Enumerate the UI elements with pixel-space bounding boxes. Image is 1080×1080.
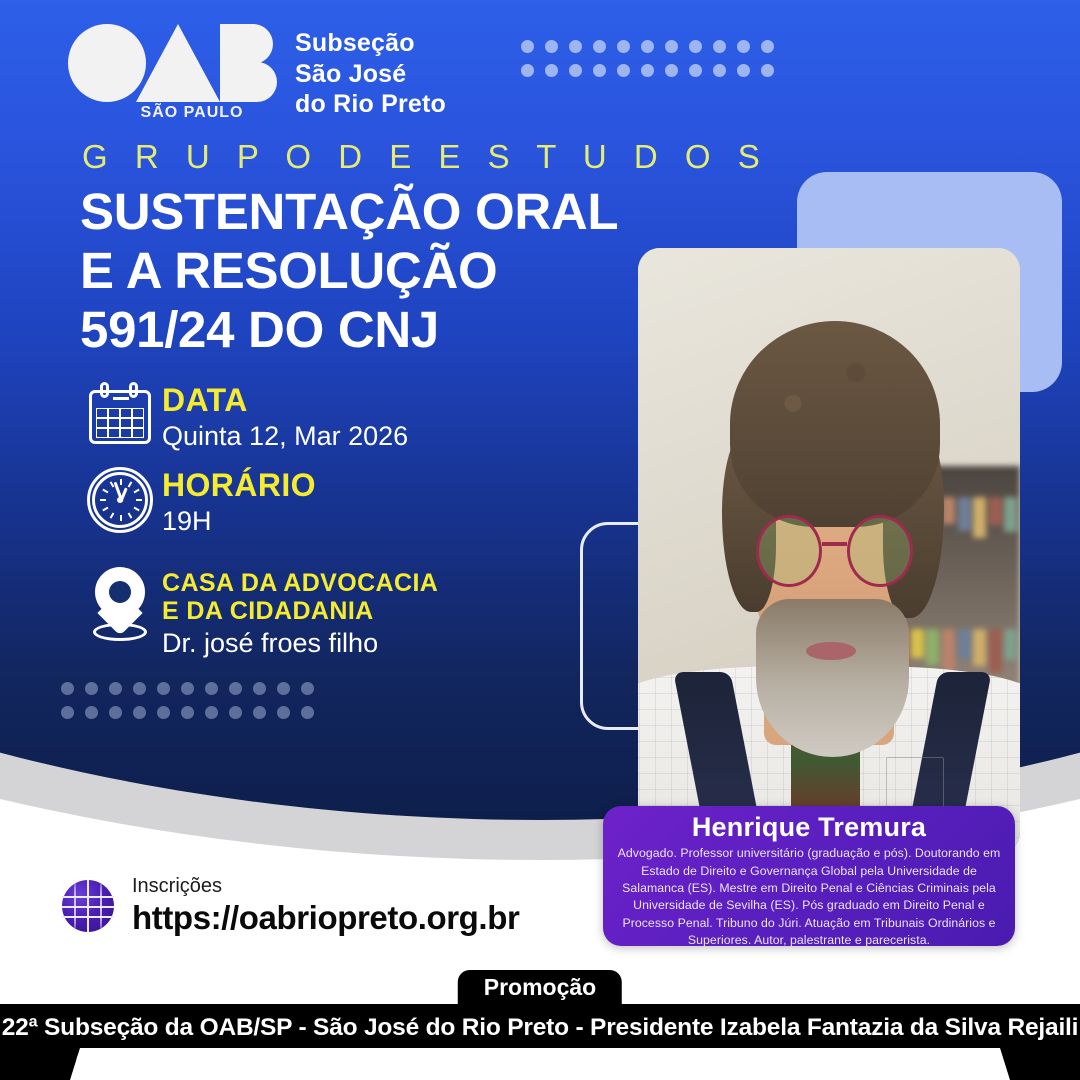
dot: [205, 682, 218, 695]
registration-label: Inscrições: [132, 875, 519, 897]
registration-url[interactable]: https://oabriopreto.org.br: [132, 899, 519, 937]
dot: [761, 64, 774, 77]
dot: [181, 706, 194, 719]
dot: [61, 706, 74, 719]
subsection-line-1: Subseção: [295, 28, 446, 59]
oab-letter-b-upper-icon: [225, 24, 273, 64]
speaker-card: Henrique Tremura Advogado. Professor uni…: [603, 806, 1015, 946]
time-value: 19H: [162, 505, 316, 539]
speaker-bio: Advogado. Professor universitário (gradu…: [615, 845, 1003, 950]
page-title: SUSTENTAÇÃO ORAL E A RESOLUÇÃO 591/24 DO…: [80, 182, 618, 359]
dot: [545, 64, 558, 77]
oab-logo-state: SÃO PAULO: [112, 104, 272, 122]
dot: [181, 682, 194, 695]
title-line-1: SUSTENTAÇÃO ORAL: [80, 182, 618, 241]
dot: [301, 706, 314, 719]
dot: [521, 64, 534, 77]
time-label: HORÁRIO: [162, 469, 316, 503]
title-line-2: E A RESOLUÇÃO: [80, 241, 618, 300]
dot: [713, 64, 726, 77]
dot: [689, 64, 702, 77]
dot: [61, 682, 74, 695]
dot: [665, 40, 678, 53]
clock-icon: [78, 467, 162, 533]
dot: [617, 64, 630, 77]
dot: [133, 706, 146, 719]
calendar-icon: [78, 382, 162, 444]
dot: [85, 682, 98, 695]
title-line-3: 591/24 DO CNJ: [80, 300, 618, 359]
kicker-label: G R U P O D E E S T U D O S: [82, 138, 769, 176]
dot: [109, 682, 122, 695]
dot: [205, 706, 218, 719]
dot: [301, 682, 314, 695]
oab-subsection-text: Subseção São José do Rio Preto: [295, 28, 446, 120]
dot: [157, 682, 170, 695]
map-pin-icon: [78, 567, 162, 643]
oab-logo-mark: SÃO PAULO: [62, 18, 247, 118]
oab-letter-a-icon: [136, 24, 220, 102]
dot: [229, 706, 242, 719]
date-label: DATA: [162, 384, 408, 418]
dot: [593, 64, 606, 77]
dot: [713, 40, 726, 53]
dot: [521, 40, 534, 53]
oab-letter-o-icon: [68, 24, 146, 102]
dot: [665, 64, 678, 77]
dot: [689, 40, 702, 53]
detail-row-place: CASA DA ADVOCACIA E DA CIDADANIA Dr. jos…: [78, 567, 578, 661]
dot: [277, 682, 290, 695]
dot: [109, 706, 122, 719]
dot: [253, 682, 266, 695]
subsection-line-3: do Rio Preto: [295, 89, 446, 120]
dot: [737, 40, 750, 53]
footer-line-1: 22ª Subseção da OAB/SP - São José do Rio…: [0, 1014, 1080, 1042]
dot: [641, 64, 654, 77]
dot: [761, 40, 774, 53]
dot: [133, 682, 146, 695]
dot-pattern-top: [521, 40, 774, 77]
date-value: Quinta 12, Mar 2026: [162, 420, 408, 454]
event-details: DATA Quinta 12, Mar 2026: [78, 382, 578, 666]
dot: [277, 706, 290, 719]
eyeglasses-icon: [756, 515, 913, 588]
place-label-line-2: E DA CIDADANIA: [162, 597, 438, 625]
subsection-line-2: São José: [295, 59, 446, 90]
place-value: Dr. josé froes filho: [162, 627, 438, 661]
detail-row-date: DATA Quinta 12, Mar 2026: [78, 382, 578, 453]
oab-logo: SÃO PAULO Subseção São José do Rio Preto: [62, 18, 446, 120]
dot-pattern-bottom: [61, 682, 314, 719]
dot: [253, 706, 266, 719]
dot: [545, 40, 558, 53]
oab-letter-b-lower-icon: [225, 62, 277, 102]
dot: [593, 40, 606, 53]
dot: [85, 706, 98, 719]
dot: [569, 40, 582, 53]
dot: [229, 682, 242, 695]
detail-row-time: HORÁRIO 19H: [78, 467, 578, 538]
event-poster: SÃO PAULO Subseção São José do Rio Preto…: [0, 0, 1080, 1080]
dot: [157, 706, 170, 719]
globe-icon: [62, 880, 114, 932]
registration-block[interactable]: Inscrições https://oabriopreto.org.br: [62, 875, 519, 937]
footer: Promoção 22ª Subseção da OAB/SP - São Jo…: [0, 970, 1080, 1080]
speaker-name: Henrique Tremura: [615, 812, 1003, 843]
speaker-photo: [638, 248, 1020, 854]
dot: [737, 64, 750, 77]
dot: [641, 40, 654, 53]
dot: [617, 40, 630, 53]
footer-line-2: Comissão de Políticas Criminais e Penite…: [0, 1048, 1080, 1076]
dot: [569, 64, 582, 77]
place-label-line-1: CASA DA ADVOCACIA: [162, 569, 438, 597]
promo-tab-label: Promoção: [458, 970, 622, 1007]
